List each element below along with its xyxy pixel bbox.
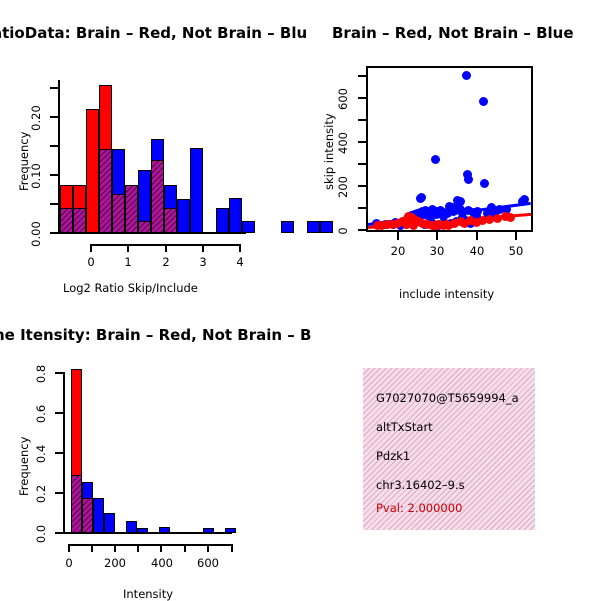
- xtick: [397, 232, 399, 240]
- ytick-label: 200: [336, 172, 350, 202]
- xtick: [239, 244, 241, 252]
- scatter-point: [431, 155, 440, 164]
- scatter-point: [439, 212, 448, 221]
- bar-blue: [159, 527, 170, 533]
- xtick-label: 0: [77, 255, 105, 269]
- ytick: [50, 232, 58, 234]
- scatter-point: [430, 222, 439, 231]
- scatter-point: [416, 194, 425, 203]
- bar-overlap: [125, 185, 138, 233]
- bar-blue: [229, 198, 242, 233]
- info-probe-id: G7027070@T5659994_a: [376, 391, 519, 405]
- scatter-title: Brain – Red, Not Brain – Blue: [332, 24, 574, 42]
- scatter-point: [518, 197, 527, 206]
- bar-overlap: [60, 208, 73, 233]
- ytick: [50, 87, 58, 89]
- intensity-histogram-title: ne Itensity: Brain – Red, Not Brain – B: [0, 326, 311, 344]
- ytick: [358, 119, 366, 121]
- xtick: [160, 544, 162, 552]
- figure-canvas: atioData: Brain – Red, Not Brain – Blu F…: [0, 0, 600, 600]
- xtick: [90, 244, 92, 252]
- bar-overlap: [138, 221, 151, 233]
- ratio-histogram-bars: [60, 82, 250, 233]
- scatter-point: [479, 97, 488, 106]
- bar-blue: [104, 513, 115, 533]
- xtick: [184, 544, 186, 552]
- ytick: [358, 75, 366, 77]
- ytick-label: 400: [336, 128, 350, 158]
- bar-overlap: [112, 194, 125, 233]
- bar-overlap: [71, 475, 82, 533]
- info-pval: Pval: 2.000000: [376, 501, 462, 515]
- panel-ratio-histogram: atioData: Brain – Red, Not Brain – Blu F…: [0, 0, 300, 300]
- scatter-point: [423, 211, 432, 220]
- ytick-label: 0.8: [34, 359, 48, 389]
- bar-red: [86, 109, 99, 233]
- ytick: [50, 145, 58, 147]
- ytick-label: 0.4: [34, 439, 48, 469]
- bar-overlap: [151, 160, 164, 233]
- xtick-label: 200: [101, 556, 129, 570]
- scatter-point: [409, 221, 418, 230]
- bar-blue: [93, 498, 104, 533]
- ytick: [55, 452, 63, 454]
- ytick-label: 0.20: [29, 100, 43, 136]
- ytick: [358, 185, 366, 187]
- ytick: [358, 97, 366, 99]
- bar-overlap: [82, 498, 93, 533]
- scatter-ylabel: skip intensity: [322, 113, 336, 190]
- bar-blue: [126, 521, 137, 533]
- scatter-point: [464, 175, 473, 184]
- ratio-histogram-title: atioData: Brain – Red, Not Brain – Blu: [0, 24, 307, 42]
- info-locus: chr3.16402–9.s: [376, 478, 465, 492]
- xtick: [436, 232, 438, 240]
- xtick-label: 4: [226, 255, 254, 269]
- scatter-point: [480, 179, 489, 188]
- xtick-label: 20: [384, 244, 412, 258]
- ytick: [50, 116, 58, 118]
- xtick-label: 40: [463, 244, 491, 258]
- ytick: [358, 207, 366, 209]
- xtick: [137, 544, 139, 552]
- scatter-point: [506, 213, 515, 222]
- xtick: [207, 544, 209, 552]
- ytick: [50, 203, 58, 205]
- ytick: [55, 492, 63, 494]
- intensity-histogram-ylabel: Frequency: [17, 437, 31, 496]
- ytick-label: 600: [336, 84, 350, 114]
- xtick: [165, 244, 167, 252]
- ytick: [55, 532, 63, 534]
- ytick: [55, 372, 63, 374]
- bar-overlap: [164, 208, 177, 233]
- xtick-label: 30: [423, 244, 451, 258]
- panel-intensity-histogram: ne Itensity: Brain – Red, Not Brain – B …: [0, 300, 300, 600]
- ytick: [55, 412, 63, 414]
- info-event-type: altTxStart: [376, 420, 433, 434]
- scatter-points-layer: [368, 68, 531, 230]
- bar-blue: [216, 208, 229, 233]
- xtick: [202, 244, 204, 252]
- scatter-xlabel: include intensity: [399, 287, 494, 301]
- xtick-label: 600: [194, 556, 222, 570]
- xtick: [91, 544, 93, 552]
- gene-info-panel: G7027070@T5659994_a altTxStart Pdzk1 chr…: [363, 368, 535, 530]
- xtick-label: 50: [502, 244, 530, 258]
- bar-blue: [242, 221, 255, 233]
- bar-overlap: [99, 149, 112, 233]
- xtick: [127, 244, 129, 252]
- ytick: [358, 229, 366, 231]
- intensity-histogram-xlabel: Intensity: [123, 587, 173, 601]
- ratio-histogram-xlabel: Log2 Ratio Skip/Include: [63, 281, 198, 295]
- xtick: [68, 544, 70, 552]
- xtick: [515, 232, 517, 240]
- intensity-histogram-yaxis: [63, 372, 65, 534]
- xtick: [231, 544, 233, 552]
- ytick: [358, 163, 366, 165]
- panel-intensity-scatter: Brain – Red, Not Brain – Blue skip inten…: [300, 0, 600, 300]
- xtick-label: 3: [189, 255, 217, 269]
- bar-blue: [225, 528, 236, 533]
- ytick-label: 0.00: [29, 216, 43, 252]
- xtick-label: 2: [152, 255, 180, 269]
- ytick-label: 0.0: [34, 519, 48, 549]
- ytick-label: 0.2: [34, 479, 48, 509]
- ytick-label: 0.6: [34, 399, 48, 429]
- bar-blue: [190, 148, 203, 233]
- intensity-histogram-bars: [71, 368, 236, 533]
- xtick: [476, 232, 478, 240]
- info-gene-name: Pdzk1: [376, 449, 410, 463]
- ytick-label: 0: [336, 216, 350, 246]
- scatter-point: [449, 207, 458, 216]
- ytick: [358, 141, 366, 143]
- xtick-label: 0: [55, 556, 83, 570]
- xtick-label: 1: [114, 255, 142, 269]
- bar-overlap: [73, 208, 86, 233]
- xtick-label: 400: [148, 556, 176, 570]
- bar-blue: [203, 528, 214, 533]
- bar-blue: [281, 221, 294, 233]
- scatter-point: [373, 221, 382, 230]
- ytick-label: 0.10: [29, 158, 43, 194]
- ytick: [50, 174, 58, 176]
- bar-blue: [177, 199, 190, 233]
- bar-blue: [137, 528, 148, 533]
- scatter-point: [462, 71, 471, 80]
- xtick: [114, 544, 116, 552]
